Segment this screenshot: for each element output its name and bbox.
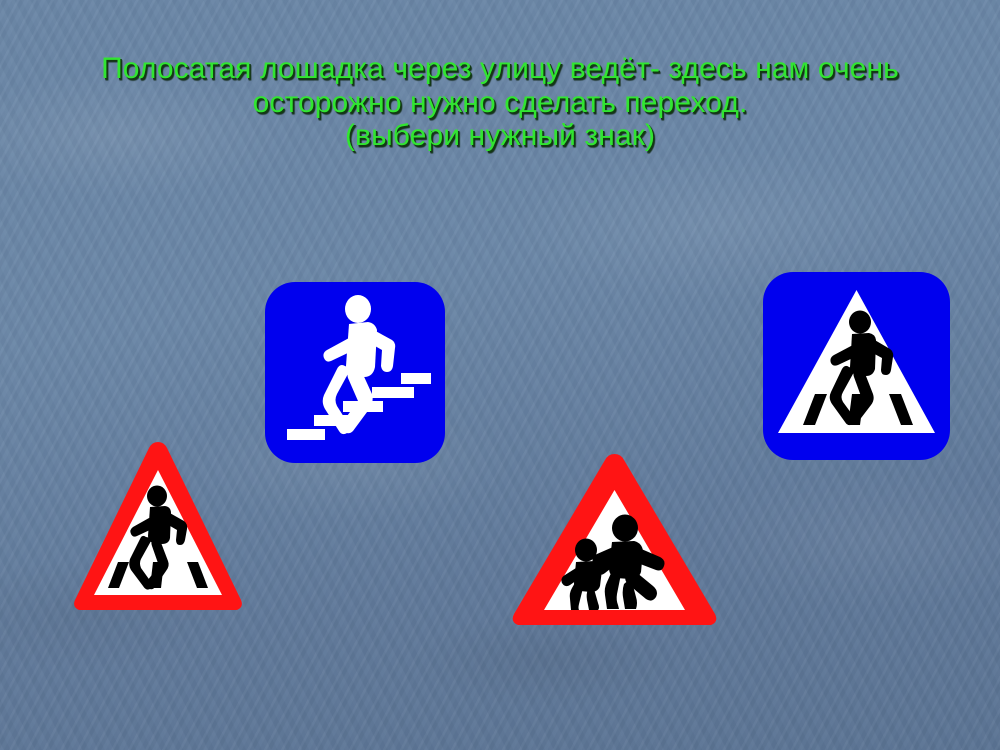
pedestrian-crossing-warning-icon (70, 440, 246, 618)
sign-pedestrian-crossing-blue[interactable] (763, 272, 950, 460)
page-title: Полосатая лошадка через улицу ведёт- зде… (0, 52, 1000, 153)
sign-children-warning[interactable] (508, 452, 721, 635)
underpass-stairs-icon (265, 282, 445, 463)
pedestrian-crossing-icon (763, 272, 950, 460)
children-warning-icon (508, 452, 721, 635)
sign-pedestrian-crossing-warning[interactable] (70, 440, 246, 618)
slide-canvas: Полосатая лошадка через улицу ведёт- зде… (0, 0, 1000, 750)
sign-underpass-stairs[interactable] (265, 282, 445, 463)
title-line-1: Полосатая лошадка через улицу ведёт- зде… (0, 52, 1000, 86)
title-line-3: (выбери нужный знак) (0, 119, 1000, 153)
title-line-2: осторожно нужно сделать переход. (0, 86, 1000, 120)
